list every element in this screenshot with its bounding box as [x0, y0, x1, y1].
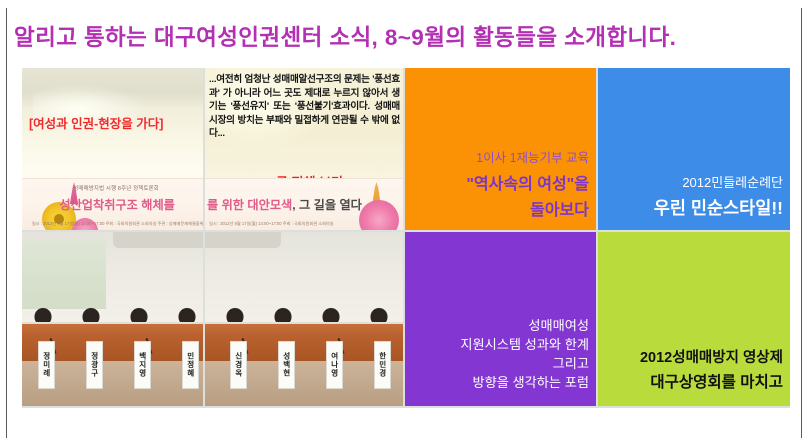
page-root: 알리고 통하는 대구여성인권센터 소식, 8~9월의 활동들을 소개합니다. […	[0, 0, 808, 444]
blue-caption-line-2: 우린 민순스타일!!	[654, 195, 783, 220]
nameplate-text: 정광구	[91, 352, 99, 378]
nameplate-text: 여나영	[331, 352, 339, 378]
orange-caption-block: 1이사 1재능기부 교육 "역사속의 여성"을 돌아보다	[405, 68, 596, 230]
orange-caption-line-2: "역사속의 여성"을	[466, 170, 589, 194]
collage-cell-seminar-photo[interactable]: [여성과 인권-현장을 가다] 성매매방지법 시행 8주년 정책토론회 성산업착…	[22, 68, 203, 230]
nameplate: 성백현	[278, 341, 295, 389]
purple-caption-line-1: 성매매여성	[528, 316, 589, 335]
page-border-right	[801, 8, 802, 438]
purple-caption-line-2: 지원시스템 성과와 한계	[460, 335, 589, 354]
blue-caption-line-1: 2012민들레순례단	[682, 172, 783, 191]
nameplate-text: 민정혜	[187, 352, 195, 378]
nameplate: 정광구	[86, 341, 103, 389]
nameplate-text: 한민경	[379, 352, 387, 378]
page-title-bar: 알리고 통하는 대구여성인권센터 소식, 8~9월의 활동들을 소개합니다.	[14, 16, 794, 56]
page-title: 알리고 통하는 대구여성인권센터 소식, 8~9월의 활동들을 소개합니다.	[14, 20, 676, 52]
collage-cell-article-excerpt[interactable]: ...여전히 엄청난 성매매알선구조의 문제는 '풍선효과' 가 아니라 어느 …	[205, 68, 403, 230]
article-excerpt-text: ...여전히 엄청난 성매매알선구조의 문제는 '풍선효과' 가 아니라 어느 …	[209, 73, 400, 141]
conference-banner-continued: 를 위한 대안모색, 그 길을 열다 일시 : 2012년 9월 17일(월) …	[205, 178, 403, 230]
collage-cell-blue-caption[interactable]: 2012민들레순례단 우린 민순스타일!!	[598, 68, 790, 230]
banner-title: 성산업착취구조 해체를	[59, 195, 175, 213]
activity-collage-grid: [여성과 인권-현장을 가다] 성매매방지법 시행 8주년 정책토론회 성산업착…	[22, 68, 790, 408]
page-border-left	[6, 8, 7, 438]
nameplate: 정미례	[38, 341, 55, 389]
banner-subtitle: 성매매방지법 시행 8주년 정책토론회	[73, 184, 159, 192]
purple-caption-block: 성매매여성 지원시스템 성과와 한계 그리고 방향을 생각하는 포럼	[405, 232, 596, 406]
collage-cell-orange-caption[interactable]: 1이사 1재능기부 교육 "역사속의 여성"을 돌아보다	[405, 68, 596, 230]
nameplate: 여나영	[326, 341, 343, 389]
banner-title-continued: 를 위한 대안모색, 그 길을 열다	[207, 195, 362, 213]
nameplate-text: 정미례	[43, 352, 51, 378]
orange-caption-line-1: 1이사 1재능기부 교육	[476, 147, 589, 166]
green-caption-line-2: 대구상영회를 마치고	[650, 370, 783, 392]
table-shape	[22, 322, 403, 360]
collage-cell-green-caption[interactable]: 2012성매매방지 영상제 대구상영회를 마치고	[598, 232, 790, 406]
forum-panel-photo: 정미례 정광구 백지영 민정혜 신경옥 성백현 여나영	[22, 232, 403, 406]
wall-panel-shape	[113, 232, 281, 248]
nameplate-text: 신경옥	[235, 352, 243, 378]
banner-title-dark: , 그 길을 열다	[292, 198, 362, 212]
collage-cell-forum-photo[interactable]: 정미례 정광구 백지영 민정혜 신경옥 성백현 여나영	[22, 232, 403, 406]
green-caption-line-1: 2012성매매방지 영상제	[640, 346, 783, 367]
photo-split-divider	[203, 232, 205, 406]
nameplate-text: 성백현	[283, 352, 291, 378]
seminar-photo-caption: [여성과 인권-현장을 가다]	[25, 113, 200, 132]
nameplate: 한민경	[374, 341, 391, 389]
banner-footer: 일시 : 2012년 9월 17일(월) 14:00~17:00 주최 : 국회…	[32, 221, 203, 227]
nameplate: 민정혜	[182, 341, 199, 389]
banner-footer-continued: 일시 : 2012년 9월 17일(월) 14:00~17:00 주최 : 국회…	[209, 221, 334, 227]
nameplate: 백지영	[134, 341, 151, 389]
purple-caption-line-4: 방향을 생각하는 포럼	[472, 373, 589, 392]
conference-banner: 성매매방지법 시행 8주년 정책토론회 성산업착취구조 해체를 일시 : 201…	[22, 178, 203, 230]
green-wall-shape	[22, 239, 106, 309]
nameplate-text: 백지영	[139, 352, 147, 378]
collage-cell-purple-caption[interactable]: 성매매여성 지원시스템 성과와 한계 그리고 방향을 생각하는 포럼	[405, 232, 596, 406]
flower-pink-2-icon	[359, 200, 399, 230]
nameplate: 신경옥	[230, 341, 247, 389]
green-caption-block: 2012성매매방지 영상제 대구상영회를 마치고	[598, 232, 790, 406]
orange-caption-line-3: 돌아보다	[530, 196, 589, 220]
banner-title-pink: 를 위한 대안모색	[207, 198, 292, 212]
floor-shape	[22, 361, 403, 406]
blue-caption-block: 2012민들레순례단 우린 민순스타일!!	[598, 68, 790, 230]
purple-caption-line-3: 그리고	[553, 354, 589, 373]
